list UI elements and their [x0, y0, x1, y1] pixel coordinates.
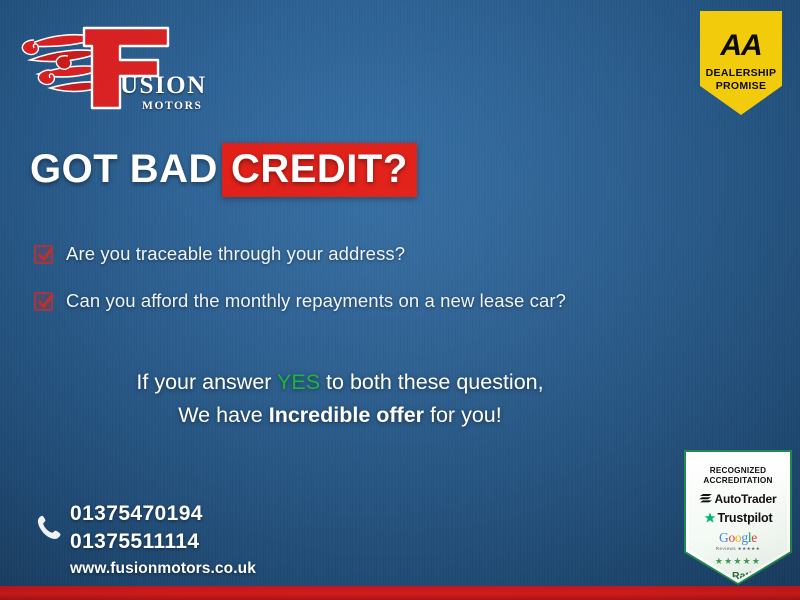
accreditation-badge-inner: RECOGNIZED ACCREDITATION AutoTrader Trus…: [689, 455, 787, 580]
phone-number-1[interactable]: 01375470194: [70, 500, 256, 528]
google-logo: Google: [689, 530, 787, 546]
logo-subtitle: MOTORS: [142, 100, 203, 112]
phone-icon: [34, 513, 64, 548]
logo-wordmark: USION: [120, 72, 207, 100]
offer-line-1: If your answer YES to both these questio…: [0, 366, 680, 399]
checkbox-checked-icon: [34, 292, 53, 311]
autotrader-icon: [699, 493, 712, 504]
advert-canvas: USION MOTORS AA DEALERSHIP PROMISE GOT B…: [0, 0, 800, 600]
offer-block: If your answer YES to both these questio…: [0, 366, 800, 433]
autotrader-row: AutoTrader: [689, 492, 787, 506]
accreditation-title-line2: ACCREDITATION: [689, 476, 787, 486]
aa-dealership-promise-badge: AA DEALERSHIP PROMISE: [700, 11, 782, 115]
fusion-motors-logo[interactable]: USION MOTORS: [16, 10, 216, 120]
question-text: Are you traceable through your address?: [66, 242, 405, 265]
aa-badge-mark: AA: [700, 31, 782, 61]
headline-plain: GOT BAD: [30, 147, 218, 191]
offer-line1-part-b: to both these question,: [320, 370, 544, 394]
headline-highlight: CREDIT?: [222, 143, 417, 197]
autotrader-label: AutoTrader: [714, 492, 776, 506]
contact-lines: 01375470194 01375511114 www.fusionmotors…: [70, 500, 256, 578]
website-url[interactable]: www.fusionmotors.co.uk: [70, 560, 256, 578]
offer-line1-part-a: If your answer: [136, 370, 277, 394]
offer-line-2: We have Incredible offer for you!: [0, 399, 680, 432]
phone-number-2[interactable]: 01375511114: [70, 528, 256, 556]
question-list: Are you traceable through your address? …: [34, 242, 714, 336]
trustpilot-star-icon: [704, 512, 716, 524]
ratings-count: 500+ Ratings: [689, 570, 787, 582]
offer-emphasis: Incredible offer: [269, 403, 424, 427]
aa-badge-line1: DEALERSHIP: [700, 67, 782, 80]
trustpilot-label: Trustpilot: [718, 511, 773, 525]
offer-yes-word: YES: [277, 370, 320, 394]
accreditation-badge: RECOGNIZED ACCREDITATION AutoTrader Trus…: [686, 452, 790, 583]
offer-line2-part-b: for you!: [424, 403, 502, 427]
contact-block: 01375470194 01375511114 www.fusionmotors…: [34, 500, 256, 578]
accreditation-title-line1: RECOGNIZED: [689, 466, 787, 476]
google-reviews-caption: Reviews ★★★★★: [689, 546, 787, 552]
headline: GOT BADCREDIT?: [30, 148, 417, 190]
question-text: Can you afford the monthly repayments on…: [66, 289, 566, 312]
checkbox-checked-icon: [34, 245, 53, 264]
trustpilot-row: Trustpilot: [689, 511, 787, 525]
star-rating: ★★★★★: [689, 556, 787, 567]
google-letter-e: e: [751, 530, 757, 545]
list-item: Can you afford the monthly repayments on…: [34, 289, 714, 312]
aa-badge-line2: PROMISE: [700, 80, 782, 93]
offer-line2-part-a: We have: [178, 403, 268, 427]
list-item: Are you traceable through your address?: [34, 242, 714, 265]
bottom-accent-bar: [0, 586, 800, 600]
